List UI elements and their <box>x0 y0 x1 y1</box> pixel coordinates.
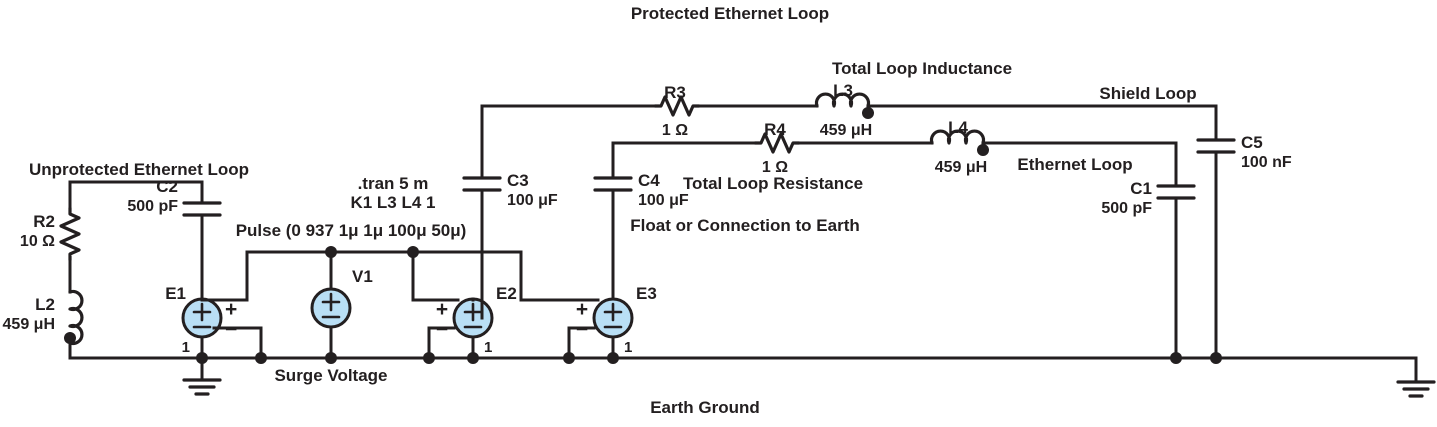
E2-pin-label: 1 <box>484 339 492 356</box>
C5-value: 100 nF <box>1241 154 1292 171</box>
L2-refdes: L2 <box>35 295 55 314</box>
C4-value: 100 μF <box>638 192 689 209</box>
label-shield-loop: Shield Loop <box>1099 84 1196 103</box>
C2-refdes: C2 <box>156 177 178 196</box>
R3-value: 1 Ω <box>662 122 688 139</box>
wire-e3-plus-ctrl <box>521 252 598 300</box>
node-l4-dot <box>977 144 989 156</box>
wire-e1-plus-ctrl <box>202 252 247 300</box>
C3-value: 100 μF <box>507 192 558 209</box>
component-C5: C5 100 nF <box>1198 133 1292 171</box>
label-total-loop-resistance: Total Loop Resistance <box>683 174 863 193</box>
wire-e2-plus-ctrl <box>413 252 458 300</box>
E3-refdes: E3 <box>636 284 657 303</box>
node-l3-dot <box>862 107 874 119</box>
directive-tran: .tran 5 m <box>358 174 429 193</box>
label-surge-voltage: Surge Voltage <box>274 366 387 385</box>
R2-value: 10 Ω <box>20 233 55 250</box>
resistor-R2-body <box>61 208 79 260</box>
R2-refdes: R2 <box>33 212 55 231</box>
capacitor-C2-plates <box>184 203 220 215</box>
label-total-loop-inductance: Total Loop Inductance <box>832 59 1012 78</box>
component-R3: R3 1 Ω <box>655 83 699 139</box>
C3-refdes: C3 <box>507 171 529 190</box>
L3-value: 459 μH <box>820 122 872 139</box>
component-C1: C1 500 pF <box>1101 179 1194 217</box>
L3-refdes: L3 <box>833 81 853 100</box>
earth-ground-icon-left <box>184 380 220 394</box>
L4-refdes: L4 <box>948 118 968 137</box>
C4-refdes: C4 <box>638 171 660 190</box>
component-E3: E3 1 + − <box>576 284 657 356</box>
E2-refdes: E2 <box>496 284 517 303</box>
L2-value: 459 μH <box>3 316 55 333</box>
label-earth-ground: Earth Ground <box>650 398 760 417</box>
E1-pin-label: 1 <box>182 339 190 356</box>
directive-pulse: Pulse (0 937 1μ 1μ 100μ 50μ) <box>236 221 467 240</box>
component-R2: R2 10 Ω <box>20 208 79 260</box>
C2-value: 500 pF <box>127 198 178 215</box>
R3-refdes: R3 <box>664 83 686 102</box>
capacitor-C3-plates <box>464 178 500 190</box>
capacitor-C5-plates <box>1198 140 1234 152</box>
label-float-or-connection: Float or Connection to Earth <box>630 216 860 235</box>
diagram-title: Protected Ethernet Loop <box>631 4 829 23</box>
component-V1: V1 <box>312 267 373 327</box>
wire-e1-minus-ctrl <box>214 328 261 358</box>
directive-coupling: K1 L3 L4 1 <box>350 193 435 212</box>
label-ethernet-loop: Ethernet Loop <box>1017 155 1132 174</box>
capacitor-C1-plates <box>1158 186 1194 198</box>
ground-symbol-e1 <box>184 358 220 394</box>
component-C3: C3 100 μF <box>464 171 558 209</box>
component-E2: E2 1 + − <box>436 284 517 356</box>
C1-value: 500 pF <box>1101 200 1152 217</box>
C5-refdes: C5 <box>1241 133 1263 152</box>
C1-refdes: C1 <box>1130 179 1152 198</box>
circuit-schematic: Protected Ethernet Loop Unprotected Ethe… <box>0 0 1437 427</box>
R4-refdes: R4 <box>764 120 786 139</box>
E1-refdes: E1 <box>165 284 186 303</box>
L4-value: 459 μH <box>935 159 987 176</box>
E3-pin-label: 1 <box>624 339 632 356</box>
V1-refdes: V1 <box>352 267 373 286</box>
component-C4: C4 100 μF <box>595 171 689 209</box>
earth-ground-icon-right <box>1398 382 1434 396</box>
ground-symbol-right <box>1398 358 1434 396</box>
component-R4: R4 1 Ω <box>755 120 799 176</box>
capacitor-C4-plates <box>595 178 631 190</box>
label-unprotected-ethernet-loop: Unprotected Ethernet Loop <box>29 160 249 179</box>
schematic-canvas: Protected Ethernet Loop Unprotected Ethe… <box>0 0 1437 427</box>
